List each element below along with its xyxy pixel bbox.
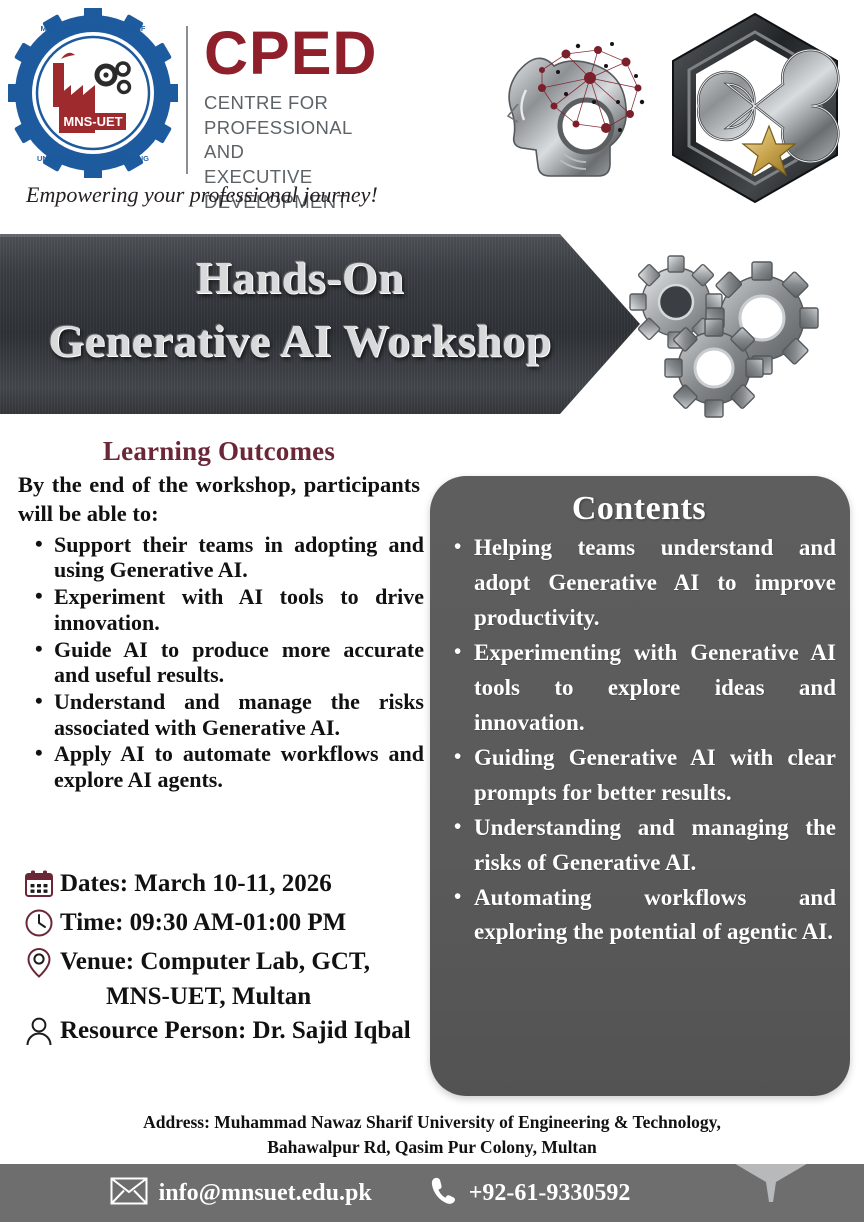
contents-list: Helping teams understand and adopt Gener…: [442, 531, 836, 950]
event-details: Dates: March 10-11, 2026 Time: 09:30 AM-…: [22, 866, 442, 1052]
contents-panel: Contents Helping teams understand and ad…: [430, 476, 850, 1096]
brand-acronym: CPED: [204, 22, 377, 84]
person-icon: [22, 1014, 56, 1048]
brand-full-line-1: CENTRE FOR: [204, 91, 377, 116]
poster-header: MUHAMMAD NAWAZ SHARIF UNIVERSITY OF ENGI…: [0, 0, 864, 228]
list-item: Apply AI to automate workflows and explo…: [54, 741, 424, 792]
list-item: Guide AI to produce more accurate and us…: [54, 637, 424, 688]
list-item: Understanding and managing the risks of …: [474, 811, 836, 881]
detail-venue: Venue: Computer Lab, GCT,: [22, 944, 442, 979]
detail-venue-text: Venue: Computer Lab, GCT,: [60, 948, 370, 976]
logo-abbrev-text: MNS-UET: [63, 114, 122, 129]
learning-outcomes-list: Support their teams in adopting and usin…: [14, 532, 424, 793]
list-item: Understand and manage the risks associat…: [54, 689, 424, 740]
address-block: Address: Muhammad Nawaz Sharif Universit…: [0, 1110, 864, 1160]
detail-time: Time: 09:30 AM-01:00 PM: [22, 905, 442, 940]
funnel-decoration: [732, 1164, 810, 1202]
detail-venue-text-line2: MNS-UET, Multan: [22, 983, 442, 1011]
footer-phone-text: +92-61-9330592: [469, 1180, 631, 1207]
footer-email-text: info@mnsuet.edu.pk: [159, 1180, 372, 1207]
calendar-icon: [22, 867, 56, 901]
learning-outcomes-heading: Learning Outcomes: [14, 436, 424, 467]
detail-dates-text: Dates: March 10-11, 2026: [60, 870, 332, 898]
ai-head-network-icon: [508, 42, 644, 176]
phone-icon: [430, 1176, 458, 1211]
title-banner: Hands-On Generative AI Workshop: [0, 228, 864, 420]
infinity-hexagon-star-icon: [673, 14, 838, 202]
envelope-icon: [110, 1177, 148, 1210]
header-artwork: [494, 10, 854, 225]
list-item: Helping teams understand and adopt Gener…: [474, 531, 836, 636]
detail-resource-person-text: Resource Person: Dr. Sajid Iqbal: [60, 1017, 411, 1045]
brand-tagline: Empowering your professional journey!: [26, 182, 378, 208]
footer-email[interactable]: info@mnsuet.edu.pk: [110, 1177, 372, 1210]
workshop-title-line1: Hands-On: [0, 246, 600, 309]
workshop-title-line2: Generative AI Workshop: [0, 309, 600, 372]
list-item: Experimenting with Generative AI tools t…: [474, 636, 836, 741]
workshop-title: Hands-On Generative AI Workshop: [0, 246, 600, 372]
list-item: Experiment with AI tools to drive innova…: [54, 584, 424, 635]
poster-footer: info@mnsuet.edu.pk +92-61-9330592: [0, 1164, 864, 1222]
detail-dates: Dates: March 10-11, 2026: [22, 866, 442, 901]
learning-outcomes-intro: By the end of the workshop, participants…: [14, 471, 424, 529]
address-line-1: Address: Muhammad Nawaz Sharif Universit…: [0, 1110, 864, 1135]
gears-icon: [618, 250, 848, 420]
brand-lockup: MUHAMMAD NAWAZ SHARIF UNIVERSITY OF ENGI…: [8, 8, 178, 178]
address-line-2: Bahawalpur Rd, Qasim Pur Colony, Multan: [0, 1135, 864, 1160]
footer-contacts: info@mnsuet.edu.pk +92-61-9330592: [0, 1164, 740, 1222]
clock-icon: [22, 906, 56, 940]
location-pin-icon: [22, 945, 56, 979]
brand-divider: [186, 26, 188, 174]
svg-text:UNIVERSITY OF ENGINEERING: UNIVERSITY OF ENGINEERING: [37, 154, 149, 163]
mns-uet-logo: MUHAMMAD NAWAZ SHARIF UNIVERSITY OF ENGI…: [8, 8, 178, 178]
footer-phone[interactable]: +92-61-9330592: [430, 1176, 631, 1211]
brand-full-line-2: PROFESSIONAL AND: [204, 116, 377, 165]
detail-time-text: Time: 09:30 AM-01:00 PM: [60, 909, 346, 937]
list-item: Automating workflows and exploring the p…: [474, 881, 836, 951]
svg-text:MUHAMMAD NAWAZ SHARIF: MUHAMMAD NAWAZ SHARIF: [41, 24, 146, 33]
detail-resource-person: Resource Person: Dr. Sajid Iqbal: [22, 1013, 442, 1048]
mns-uet-logo-icon: MUHAMMAD NAWAZ SHARIF UNIVERSITY OF ENGI…: [8, 8, 178, 178]
list-item: Guiding Generative AI with clear prompts…: [474, 741, 836, 811]
contents-heading: Contents: [442, 490, 836, 528]
learning-outcomes-section: Learning Outcomes By the end of the work…: [14, 436, 424, 794]
list-item: Support their teams in adopting and usin…: [54, 532, 424, 583]
